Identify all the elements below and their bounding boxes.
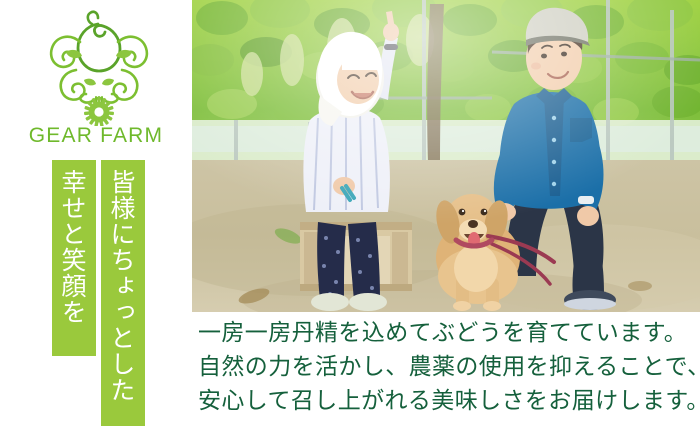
brand-panel: GEAR FARM 皆様にちょっとした 幸せと笑顔を xyxy=(0,0,192,435)
caption-line-3: 安心して召し上がれる美味しさをお届けします。 xyxy=(198,384,694,418)
brand-name: GEAR FARM xyxy=(0,124,192,148)
grapevine-gear-logo-icon xyxy=(36,8,160,126)
caption-line-2: 自然の力を活かし、農薬の使用を抑えることで、 xyxy=(198,350,694,384)
vertical-banner-secondary: 幸せと笑顔を xyxy=(52,160,96,356)
promo-banner-page: GEAR FARM 皆様にちょっとした 幸せと笑顔を xyxy=(0,0,700,435)
caption-block: 一房一房丹精を込めてぶどうを育てています。 自然の力を活かし、農薬の使用を抑える… xyxy=(198,316,694,418)
caption-line-1: 一房一房丹精を込めてぶどうを育てています。 xyxy=(198,316,694,350)
vineyard-photo xyxy=(192,0,700,312)
vertical-banner-primary: 皆様にちょっとした xyxy=(101,160,145,426)
